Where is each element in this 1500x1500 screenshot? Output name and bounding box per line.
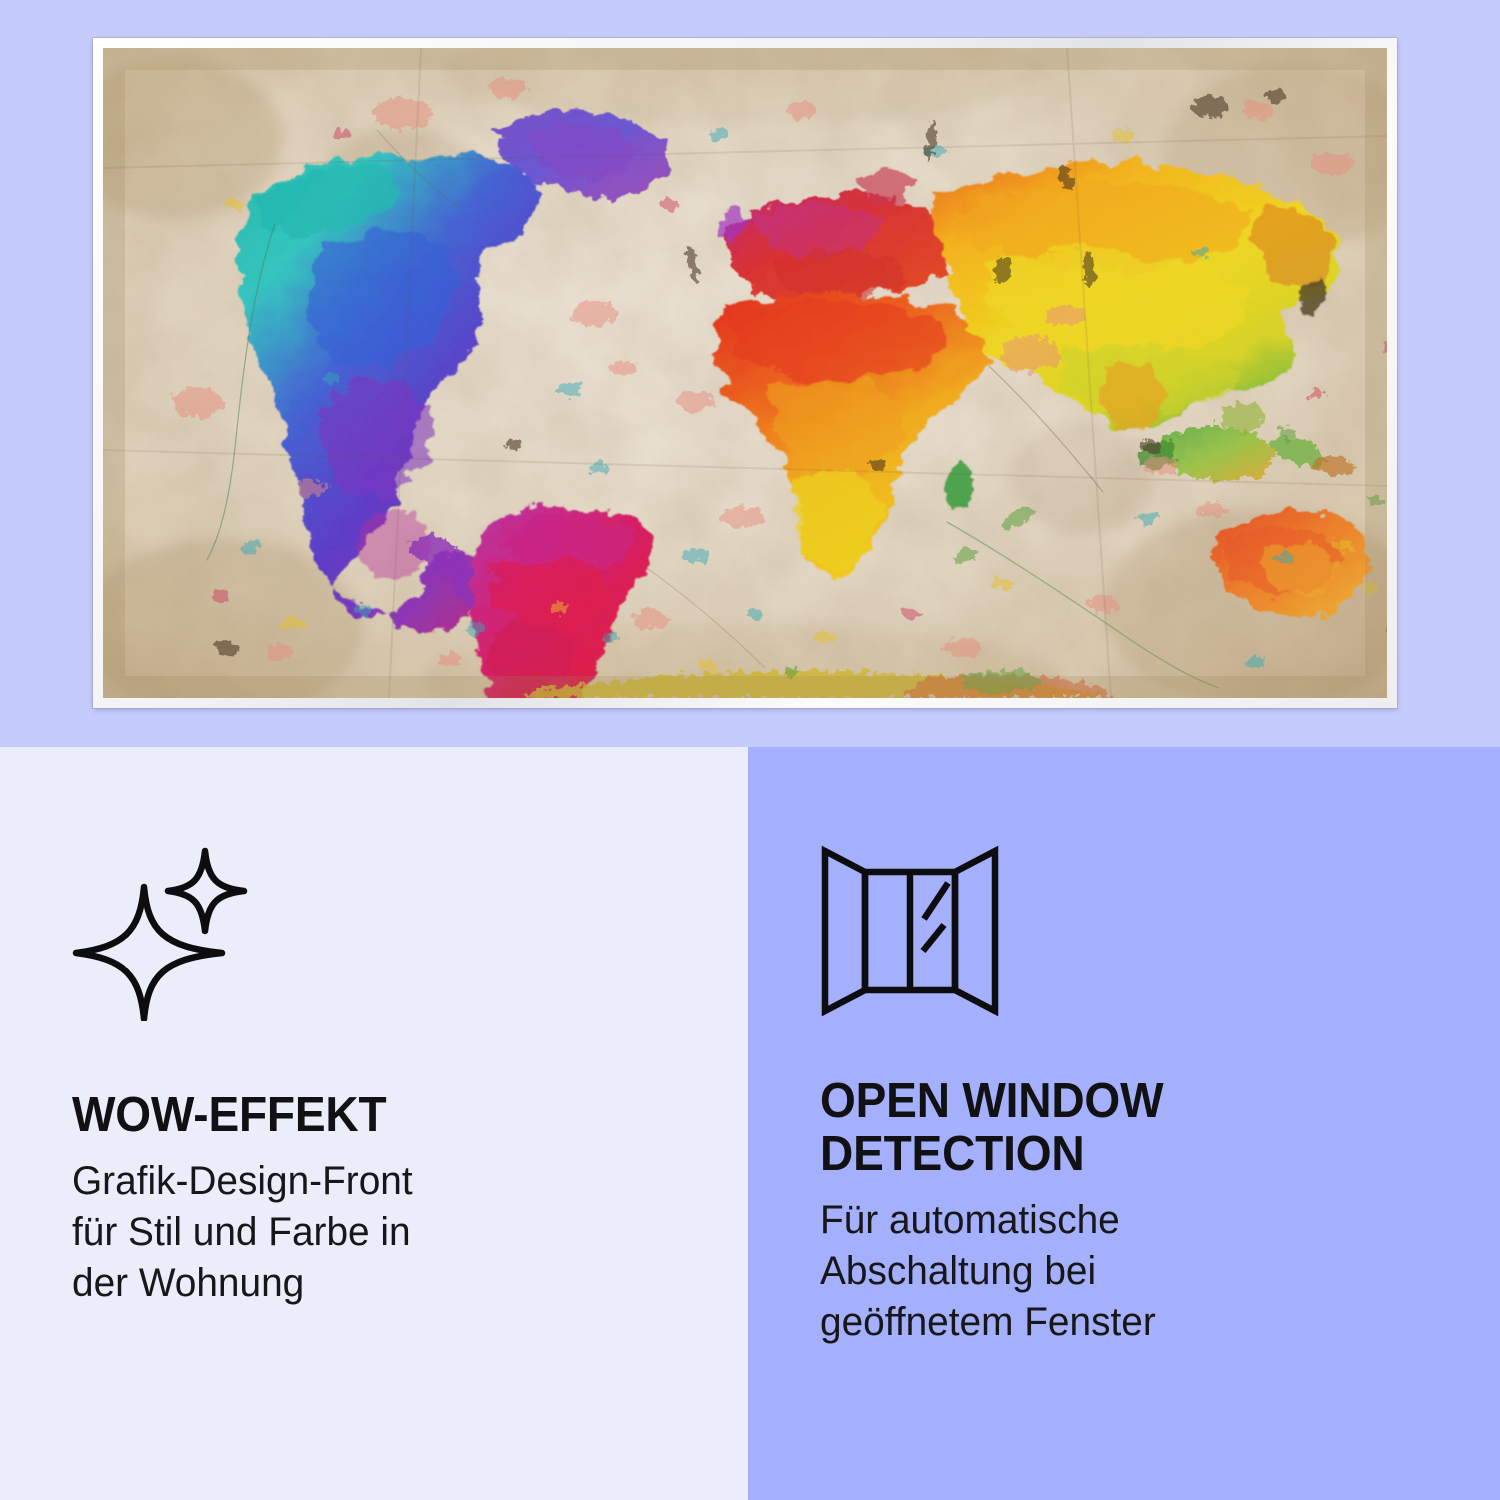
feature-title-wow-effekt: WOW-EFFEKT (72, 1089, 642, 1142)
product-feature-graphic: WOW-EFFEKT Grafik-Design-Front für Stil … (0, 0, 1500, 1500)
artwork-canvas (103, 48, 1387, 698)
feature-title-open-window-detection: OPEN WINDOW DETECTION (820, 1075, 1393, 1181)
features-section: WOW-EFFEKT Grafik-Design-Front für Stil … (0, 747, 1500, 1500)
picture-frame (93, 38, 1397, 708)
feature-panel-open-window-detection: OPEN WINDOW DETECTION Für automatische A… (748, 747, 1500, 1500)
hero-section (0, 0, 1500, 747)
sparkle-icon (72, 845, 678, 1015)
feature-description-open-window-detection: Für automatische Abschaltung bei geöffne… (820, 1195, 1412, 1349)
watercolor-world-map-artwork (103, 48, 1387, 698)
feature-panel-wow-effekt: WOW-EFFEKT Grafik-Design-Front für Stil … (0, 747, 748, 1500)
open-window-icon (820, 845, 1430, 1015)
feature-description-wow-effekt: Grafik-Design-Front für Stil und Farbe i… (72, 1156, 660, 1310)
